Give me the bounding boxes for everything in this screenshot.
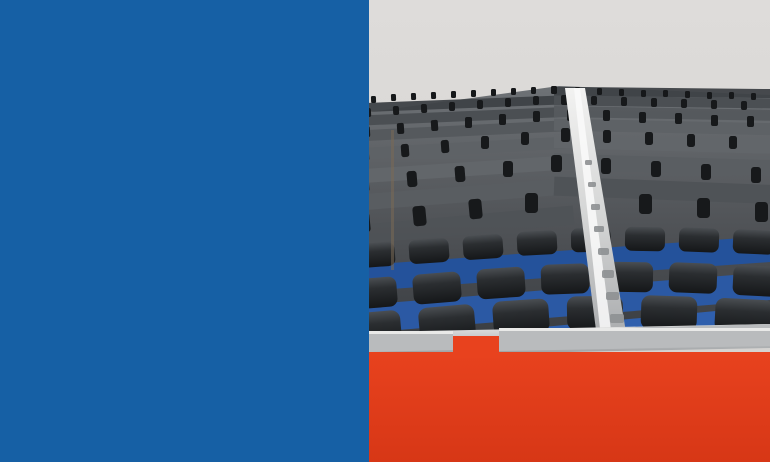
left-blue-panel [0,0,369,462]
promo-banner: R C M H ™ ROSS CLARK MATERIAL HANDLING A… [0,0,770,462]
span-track-photo [369,0,770,462]
